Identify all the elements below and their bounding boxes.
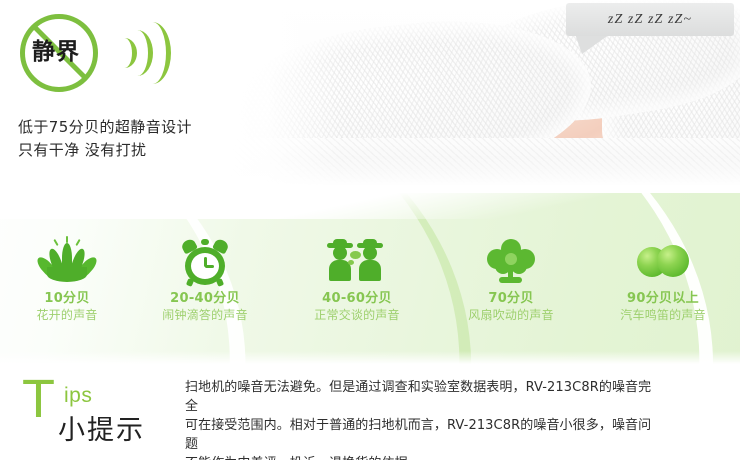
tips-logo: T ips 小提示	[20, 372, 170, 452]
decibel-item-talking: 40-60分贝 正常交谈的声音	[282, 237, 432, 323]
promo-page: zZ zZ zZ zZ~ 静界 低于75分贝的超静音设计 只有干净 没有打扰	[0, 0, 740, 460]
decibel-desc: 正常交谈的声音	[282, 307, 432, 323]
sound-wave-icon-large	[134, 22, 171, 84]
decibel-scale-band: 10分贝 花开的声音 20-40分贝 闹钟滴答的声音	[0, 193, 740, 369]
headline-line-2: 只有干净 没有打扰	[18, 139, 348, 162]
alarm-clock-icon	[130, 237, 280, 285]
decibel-level: 10分贝	[0, 291, 142, 307]
tips-letter-t: T	[22, 372, 55, 426]
tips-body-line-1: 扫地机的噪音无法避免。但是通过调查和实验室数据表明，RV-213C8R的噪音完全	[185, 378, 653, 416]
speech-bubble: zZ zZ zZ zZ~	[566, 3, 734, 36]
two-people-talking-icon	[282, 237, 432, 285]
tips-label-cn: 小提示	[58, 408, 145, 447]
decibel-desc: 汽车鸣笛的声音	[588, 307, 738, 323]
decibel-item-horn: 90分贝以上 汽车鸣笛的声音	[588, 237, 738, 323]
tips-body-line-2: 可在接受范围内。相对于普通的扫地机而言，RV-213C8R的噪音小很多，噪音问题	[185, 416, 653, 454]
tips-section: T ips 小提示 扫地机的噪音无法避免。但是通过调查和实验室数据表明，RV-2…	[0, 370, 740, 460]
decibel-level: 70分贝	[436, 291, 586, 307]
tips-body-line-3: 不能作为中差评、投诉、退换货的依据。	[185, 454, 653, 460]
car-horn-icon	[588, 237, 738, 285]
quiet-logo: 静界	[14, 10, 214, 102]
headline: 低于75分贝的超静音设计 只有干净 没有打扰	[18, 116, 348, 162]
speech-bubble-text: zZ zZ zZ zZ~	[566, 3, 734, 36]
logo-label: 静界	[32, 37, 112, 67]
tips-letters-ips: ips	[64, 384, 92, 408]
decibel-item-fan: 70分贝 风扇吹动的声音	[436, 237, 586, 323]
lotus-flower-icon	[0, 237, 142, 285]
decibel-items: 10分贝 花开的声音 20-40分贝 闹钟滴答的声音	[0, 193, 740, 369]
tips-body: 扫地机的噪音无法避免。但是通过调查和实验室数据表明，RV-213C8R的噪音完全…	[185, 378, 653, 460]
speech-bubble-tail	[573, 34, 610, 54]
decibel-level: 40-60分贝	[282, 291, 432, 307]
decibel-level: 20-40分贝	[130, 291, 280, 307]
electric-fan-icon	[436, 237, 586, 285]
decibel-desc: 风扇吹动的声音	[436, 307, 586, 323]
decibel-level: 90分贝以上	[588, 291, 738, 307]
decibel-desc: 花开的声音	[0, 307, 142, 323]
decibel-item-clock: 20-40分贝 闹钟滴答的声音	[130, 237, 280, 323]
headline-line-1: 低于75分贝的超静音设计	[18, 118, 192, 136]
decibel-desc: 闹钟滴答的声音	[130, 307, 280, 323]
hero-section: zZ zZ zZ zZ~ 静界 低于75分贝的超静音设计 只有干净 没有打扰	[0, 0, 740, 195]
decibel-item-lotus: 10分贝 花开的声音	[0, 237, 142, 323]
